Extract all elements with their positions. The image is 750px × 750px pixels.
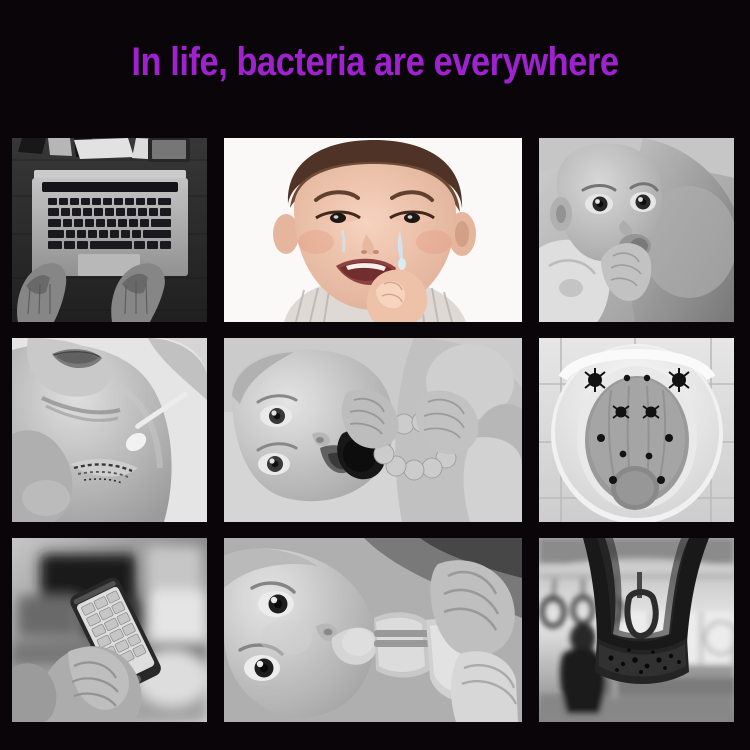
- baby-breastfeeding-photo: [539, 138, 734, 322]
- promo-banner: In life, bacteria are everywhere: [0, 0, 750, 750]
- baby-wound-cotton-swab-photo: [12, 338, 207, 522]
- gallery-tile-bacteria-on-the-bottle[interactable]: Bacteria on the bottle: [224, 538, 522, 722]
- gallery-tile-slightly-bruised[interactable]: Slightly bruised: [12, 338, 207, 522]
- gallery-tile-bacteria-on-the-phone[interactable]: Bacteria on the phone: [12, 538, 207, 722]
- crying-baby-hand-in-mouth-photo: [224, 138, 522, 322]
- laptop-keyboard-hands-photo: [12, 138, 207, 322]
- gallery-tile-bacteria-on-the-toilet[interactable]: Bacteria on the toilet: [539, 338, 734, 522]
- gallery-tile-breast-disinfection[interactable]: Breast disinfection: [539, 138, 734, 322]
- hand-holding-phone-photo: [12, 538, 207, 722]
- toilet-bowl-bacteria-photo: [539, 338, 734, 522]
- bus-hanging-straps-photo: [539, 538, 734, 722]
- gallery-tile-bacteria-on-the-vehicle[interactable]: Bacteria on the vehicle: [539, 538, 734, 722]
- gallery-tile-toy-bacteria-teether[interactable]: Toy bacteria: [224, 338, 522, 522]
- page-title: In life, bacteria are everywhere: [53, 42, 698, 82]
- baby-chewing-teether-photo: [224, 338, 522, 522]
- gallery-tile-toy-bacteria-crying-baby[interactable]: Toy bacteria: [224, 138, 522, 322]
- image-gallery-grid: Keyboard sterilization: [12, 138, 734, 722]
- baby-feeding-bottle-photo: [224, 538, 522, 722]
- gallery-tile-keyboard-sterilization[interactable]: Keyboard sterilization: [12, 138, 207, 322]
